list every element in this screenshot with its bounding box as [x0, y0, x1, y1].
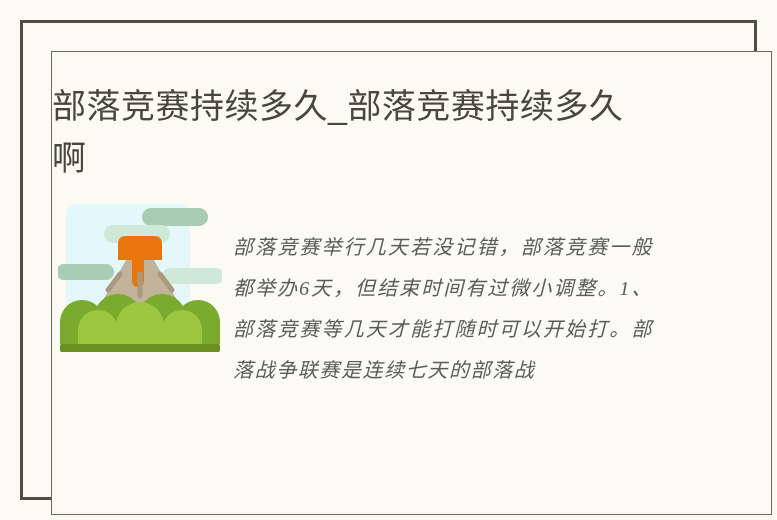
- article-body-text: 部落竞赛举行几天若没记错，部落竞赛一般都举办6天，但结束时间有过微小调整。1、部…: [233, 228, 653, 392]
- volcano-illustration: [58, 196, 222, 360]
- page-root: 部落竞赛持续多久_部落竞赛持续多久啊: [0, 0, 777, 520]
- cloud-mid-left-icon: [58, 264, 114, 280]
- cloud-top-right-icon: [142, 208, 208, 226]
- cloud-mid-right-icon: [162, 268, 222, 284]
- ground-bar: [60, 344, 220, 352]
- article-content-block: 部落竞赛举行几天若没记错，部落竞赛一般都举办6天，但结束时间有过微小调整。1、部…: [52, 196, 652, 456]
- page-title: 部落竞赛持续多久_部落竞赛持续多久啊: [52, 81, 652, 185]
